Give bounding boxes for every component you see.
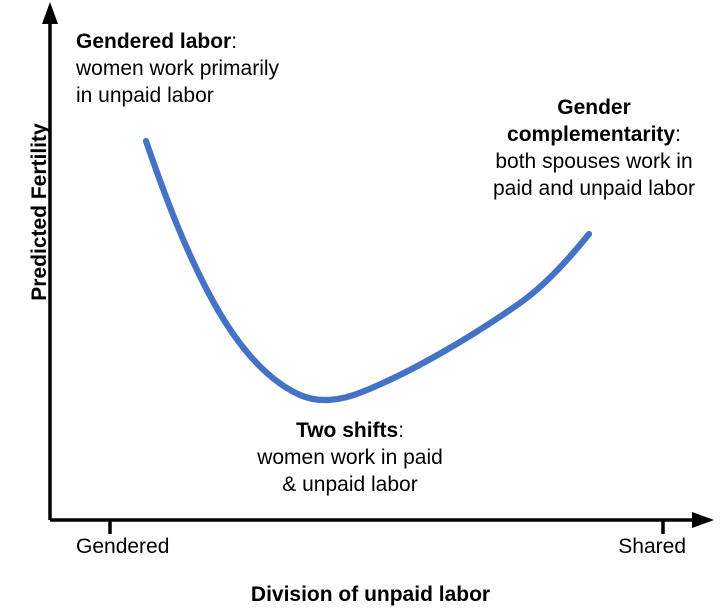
annotation-gender-complementarity-line3: both spouses work in xyxy=(472,148,716,175)
annotation-two-shifts-line1: Two shifts: xyxy=(216,417,484,444)
y-axis-label: Predicted Fertility xyxy=(28,92,52,332)
annotation-gender-complementarity-colon: : xyxy=(675,123,681,146)
x-tick-label-shared-text: Shared xyxy=(618,535,686,558)
annotation-gendered-labor-line2: women work primarily xyxy=(76,55,279,82)
x-tick-label-shared: Shared xyxy=(556,535,686,559)
annotation-two-shifts-colon: : xyxy=(398,419,404,442)
y-axis-label-text: Predicted Fertility xyxy=(28,123,51,300)
x-tick-label-gendered: Gendered xyxy=(76,535,169,559)
annotation-gendered-labor: Gendered labor: women work primarily in … xyxy=(76,28,279,109)
annotation-gender-complementarity-header2: complementarity xyxy=(507,123,675,146)
annotation-gendered-labor-header: Gendered labor xyxy=(76,30,231,53)
x-axis xyxy=(50,512,714,528)
annotation-gender-complementarity-line2: complementarity: xyxy=(472,121,716,148)
x-axis-ticks xyxy=(110,520,663,534)
annotation-two-shifts-header: Two shifts xyxy=(296,419,398,442)
annotation-gendered-labor-colon: : xyxy=(231,30,237,53)
x-axis-label: Division of unpaid labor xyxy=(0,583,721,607)
annotation-two-shifts-line3: & unpaid labor xyxy=(216,471,484,498)
x-axis-arrowhead xyxy=(692,512,714,528)
y-axis-arrowhead xyxy=(42,2,58,24)
annotation-gender-complementarity: Gender complementarity: both spouses wor… xyxy=(472,94,716,202)
annotation-gender-complementarity-line1: Gender xyxy=(472,94,716,121)
fertility-curve-figure: Predicted Fertility Division of unpaid l… xyxy=(0,0,721,615)
annotation-gender-complementarity-line4: paid and unpaid labor xyxy=(472,175,716,202)
x-tick-label-gendered-text: Gendered xyxy=(76,535,169,558)
annotation-gendered-labor-line1: Gendered labor: xyxy=(76,28,279,55)
x-axis-label-text: Division of unpaid labor xyxy=(251,583,490,606)
annotation-two-shifts: Two shifts: women work in paid & unpaid … xyxy=(216,417,484,498)
annotation-two-shifts-line2: women work in paid xyxy=(216,444,484,471)
annotation-gendered-labor-line3: in unpaid labor xyxy=(76,82,279,109)
